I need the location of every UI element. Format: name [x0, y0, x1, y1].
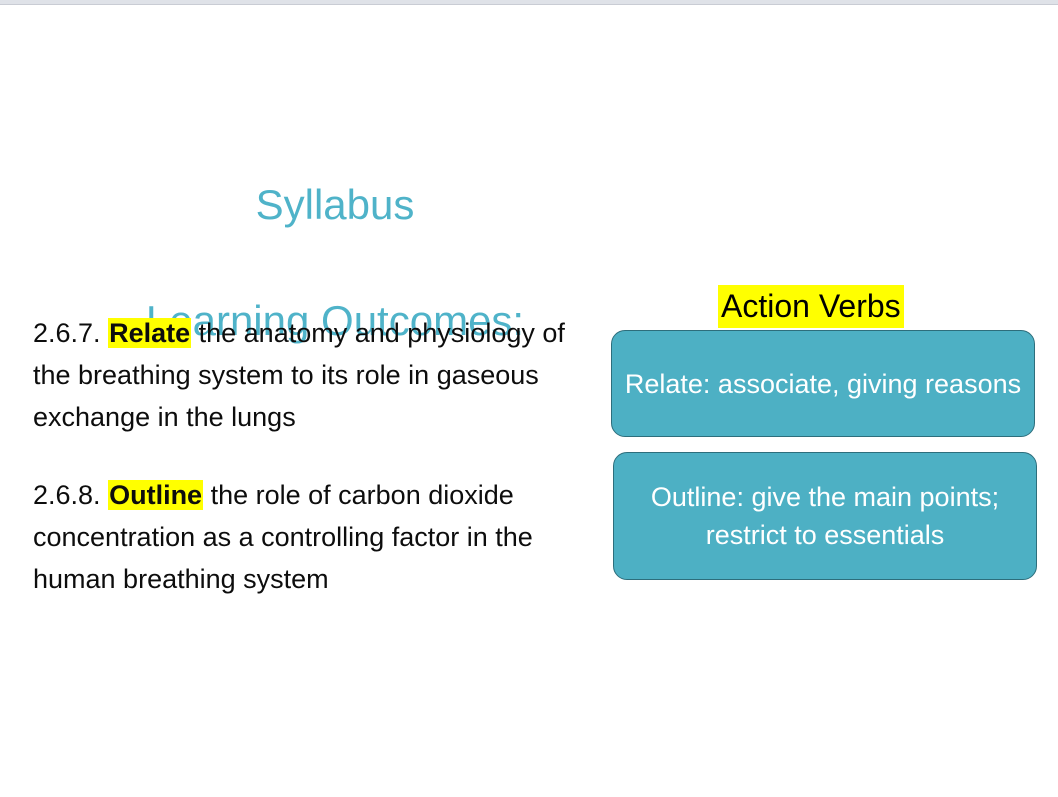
learning-outcome-item: 2.6.7. Relate the anatomy and physiology… [33, 312, 579, 438]
outcome-action-verb: Outline [108, 480, 203, 510]
learning-outcome-item: 2.6.8. Outline the role of carbon dioxid… [33, 474, 579, 600]
action-verb-card-outline: Outline: give the main points; restrict … [613, 452, 1037, 580]
outcome-number-space [101, 318, 109, 348]
learning-outcomes-list: 2.6.7. Relate the anatomy and physiology… [33, 312, 579, 600]
action-verbs-heading: Action Verbs [718, 285, 904, 328]
window-top-strip [0, 0, 1058, 5]
outcome-action-verb: Relate [108, 318, 191, 348]
action-verb-card-relate: Relate: associate, giving reasons [611, 330, 1035, 437]
outcome-number: 2.6.7. [33, 318, 101, 348]
outcome-number-space [101, 480, 109, 510]
slide-canvas: Syllabus Learning Outcomes: 2.6.7. Relat… [0, 0, 1058, 797]
action-verb-card-text: Outline: give the main points; restrict … [626, 478, 1024, 554]
action-verb-card-text: Relate: associate, giving reasons [625, 365, 1021, 403]
outcome-number: 2.6.8. [33, 480, 101, 510]
title-line-1: Syllabus [0, 176, 670, 234]
